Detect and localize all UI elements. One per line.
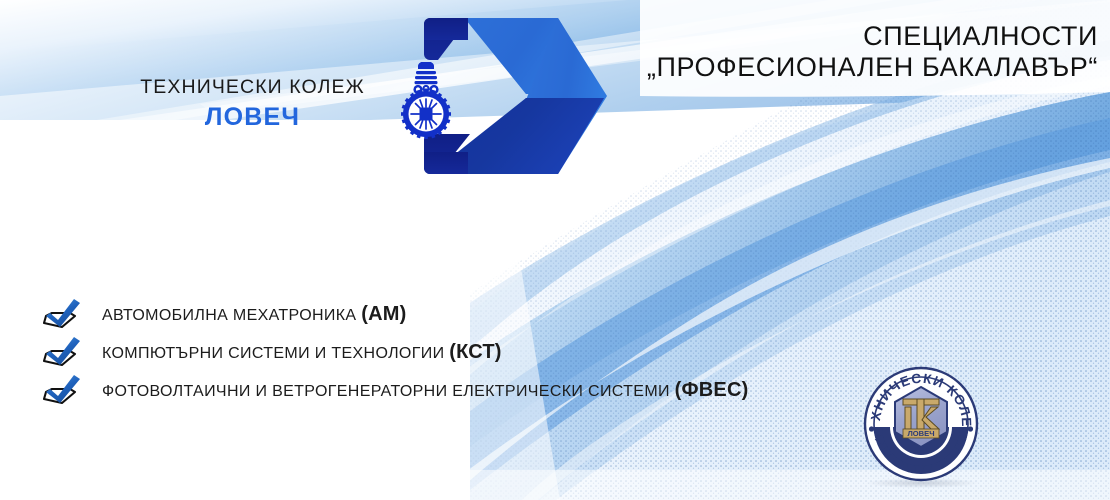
poster-canvas: ТЕХНИЧЕСКИ КОЛЕЖ ЛОВЕЧ СПЕЦИАЛНОСТИ „ПРО… xyxy=(0,0,1110,500)
page-title-line2: „ПРОФЕСИОНАЛЕН БАКАЛАВЪР“ xyxy=(647,53,1098,82)
specialty-abbr: (КСТ) xyxy=(449,341,501,363)
specialty-name: ФОТОВОЛТАИЧНИ И ВЕТРОГЕНЕРАТОРНИ ЕЛЕКТРИ… xyxy=(102,383,670,400)
list-item: АВТОМОБИЛНА МЕХАТРОНИКА (АМ) xyxy=(40,296,1040,332)
page-title-line1: СПЕЦИАЛНОСТИ xyxy=(647,22,1098,51)
list-item-label: КОМПЮТЪРНИ СИСТЕМИ И ТЕХНОЛОГИИ (КСТ) xyxy=(102,341,502,364)
checkmark-box-icon xyxy=(40,335,86,369)
college-name-line1: ТЕХНИЧЕСКИ КОЛЕЖ xyxy=(110,78,395,98)
college-name: ТЕХНИЧЕСКИ КОЛЕЖ ЛОВЕЧ xyxy=(110,78,395,130)
list-item-label: АВТОМОБИЛНА МЕХАТРОНИКА (АМ) xyxy=(102,303,406,326)
seal-banner-text: ЛОВЕЧ xyxy=(907,429,934,438)
specialty-name: КОМПЮТЪРНИ СИСТЕМИ И ТЕХНОЛОГИИ xyxy=(102,345,444,362)
specialty-abbr: (ФВЕС) xyxy=(675,379,749,401)
list-item-label: ФОТОВОЛТАИЧНИ И ВЕТРОГЕНЕРАТОРНИ ЕЛЕКТРИ… xyxy=(102,379,748,402)
checkmark-box-icon xyxy=(40,297,86,331)
page-title: СПЕЦИАЛНОСТИ „ПРОФЕСИОНАЛЕН БАКАЛАВЪР“ xyxy=(647,22,1098,81)
college-seal-icon: ТЕХНИЧЕСКИ КОЛЕЖ xyxy=(862,365,980,483)
specialty-name: АВТОМОБИЛНА МЕХАТРОНИКА xyxy=(102,307,356,324)
specialty-abbr: (АМ) xyxy=(361,303,406,325)
checkmark-box-icon xyxy=(40,373,86,407)
gear-lightbulb-icon xyxy=(398,62,454,142)
college-name-line2: ЛОВЕЧ xyxy=(110,105,395,130)
